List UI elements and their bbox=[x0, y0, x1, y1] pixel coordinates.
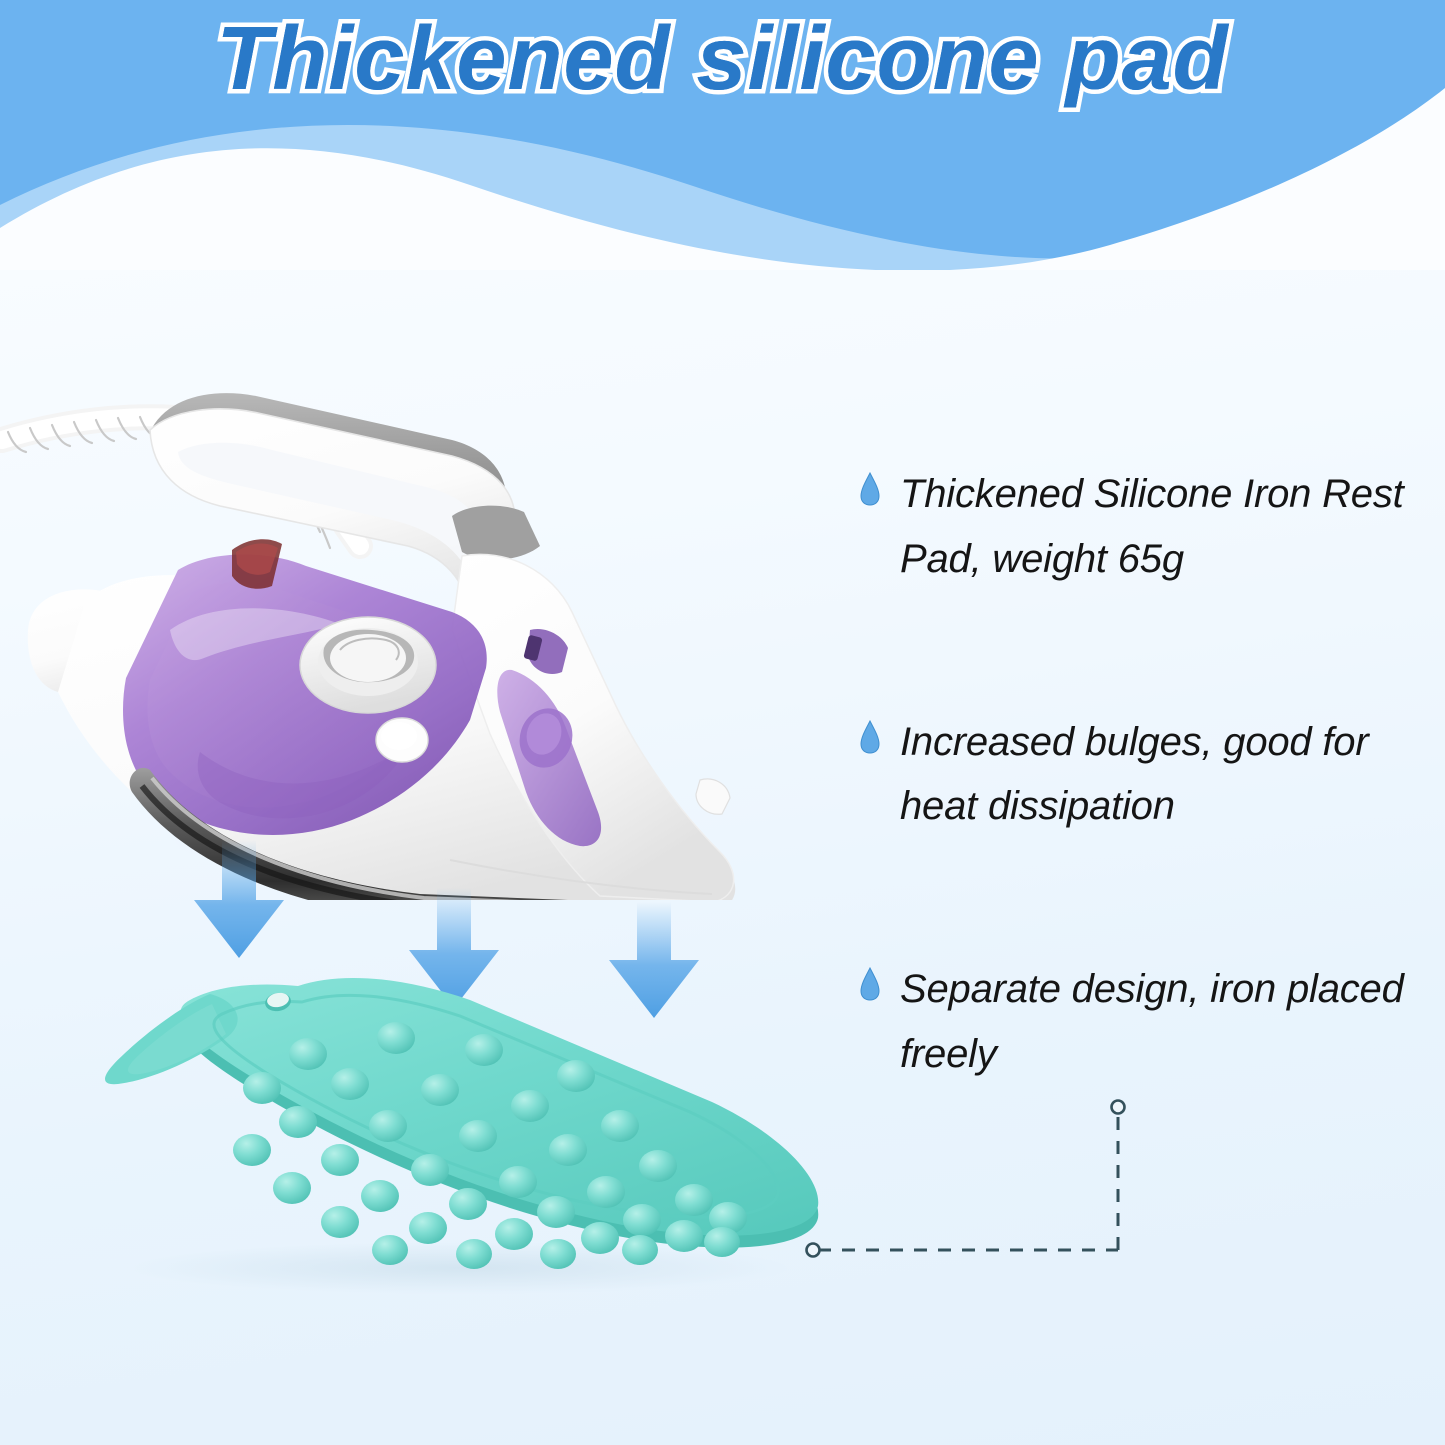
banner-wave-light bbox=[0, 96, 1445, 270]
silicone-pad-image bbox=[40, 950, 870, 1300]
banner-background bbox=[0, 0, 1445, 270]
feature-text-1: Thickened Silicone Iron Rest Pad, weight… bbox=[900, 462, 1420, 592]
header-banner: Thickened silicone pad Thickened silicon… bbox=[0, 0, 1445, 270]
page-title-outline: Thickened silicone pad bbox=[0, 8, 1445, 111]
dimension-callout bbox=[780, 1080, 1180, 1300]
banner-wave-white bbox=[0, 88, 1445, 270]
feature-item-1: Thickened Silicone Iron Rest Pad, weight… bbox=[860, 462, 1430, 592]
page-title: Thickened silicone pad bbox=[0, 8, 1445, 111]
iron-product-image bbox=[0, 300, 800, 900]
iron-spray-button-top bbox=[381, 722, 417, 750]
feature-text-2: Increased bulges, good for heat dissipat… bbox=[900, 710, 1420, 840]
iron-temperature-dial bbox=[300, 617, 436, 713]
feature-text-3: Separate design, iron placed freely bbox=[900, 957, 1420, 1087]
iron-drop-bullet-icon bbox=[860, 967, 880, 1001]
feature-list: Thickened Silicone Iron Rest Pad, weight… bbox=[860, 462, 1430, 1087]
iron-drop-bullet-icon bbox=[860, 472, 880, 506]
infographic-page: Thickened silicone pad Thickened silicon… bbox=[0, 0, 1445, 1445]
callout-endpoint-start bbox=[807, 1244, 820, 1257]
feature-item-2: Increased bulges, good for heat dissipat… bbox=[860, 710, 1430, 840]
iron-drop-bullet-icon bbox=[860, 720, 880, 754]
callout-endpoint-end bbox=[1112, 1101, 1125, 1114]
feature-item-3: Separate design, iron placed freely bbox=[860, 957, 1430, 1087]
iron-nose-tab bbox=[696, 779, 730, 814]
iron-thumb-rest bbox=[452, 506, 540, 560]
arrow-down-1 bbox=[194, 840, 284, 958]
